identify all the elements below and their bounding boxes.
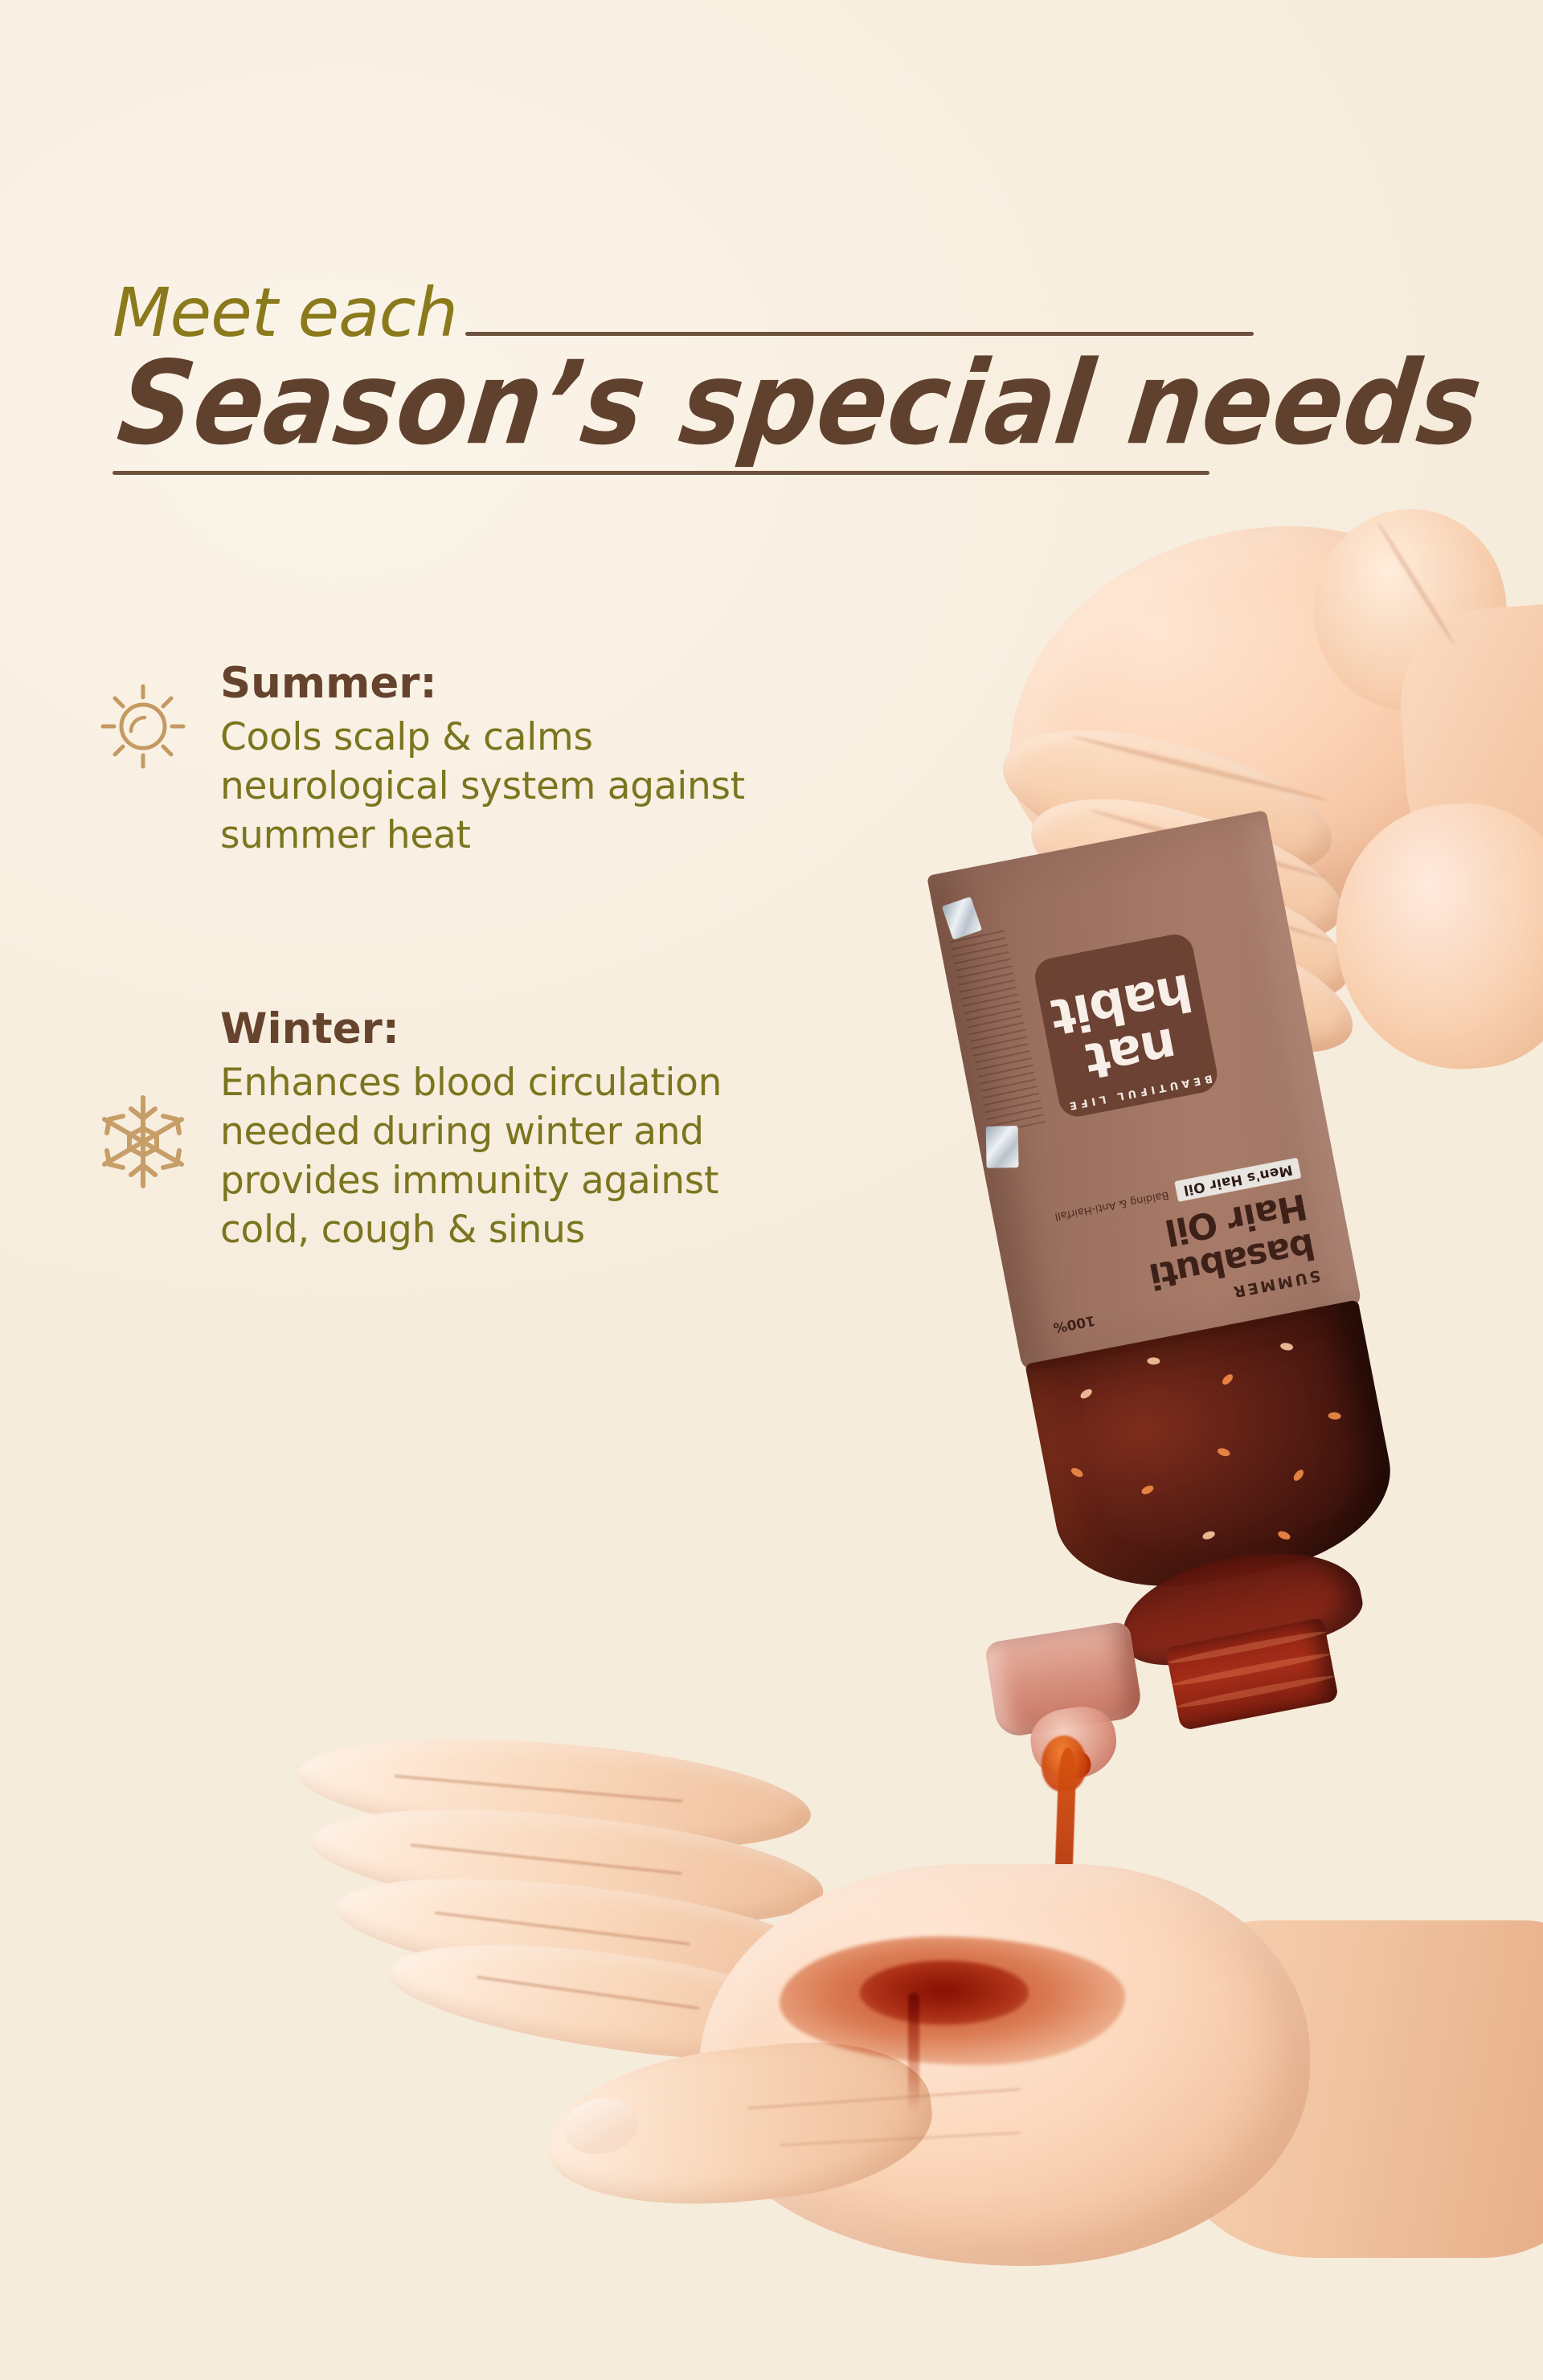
snowflake-icon bbox=[71, 1004, 215, 1192]
benefit-winter-line: cold, cough & sinus bbox=[220, 1205, 882, 1254]
benefit-summer: Summer: Cools scalp & calms neurological… bbox=[71, 659, 874, 860]
label-foil-badge bbox=[986, 1126, 1019, 1168]
hand-holding-bottle bbox=[888, 476, 1543, 1114]
brand-name-nat: nat bbox=[1009, 1006, 1254, 1101]
label-season: SUMMER bbox=[1230, 1266, 1322, 1301]
benefit-winter-text: Winter: Enhances blood circulation neede… bbox=[215, 1004, 882, 1254]
headline-block: Meet each Season’s special needs bbox=[113, 281, 1254, 475]
label-product-name: basabuti bbox=[1146, 1225, 1318, 1297]
label-product-type: Hair Oil bbox=[1162, 1185, 1311, 1253]
benefit-summer-line: neurological system against bbox=[220, 762, 874, 811]
bottle-shoulder bbox=[1113, 1535, 1368, 1675]
bottle-neck bbox=[1165, 1617, 1339, 1731]
benefit-winter: Winter: Enhances blood circulation neede… bbox=[71, 1004, 882, 1254]
bottle-nozzle-cap bbox=[973, 1619, 1165, 1804]
label-subtitle: Men's Hair Oil bbox=[1174, 1158, 1301, 1202]
headline-kicker: Meet each bbox=[113, 281, 457, 346]
oil-stream-head bbox=[1042, 1736, 1087, 1792]
hair-oil-bottle: SUMMER basabuti Hair Oil Men's Hair Oil … bbox=[879, 805, 1455, 1736]
benefit-summer-title: Summer: bbox=[220, 659, 874, 710]
headline-script: Season’s special needs bbox=[113, 346, 1268, 463]
benefit-winter-line: Enhances blood circulation bbox=[220, 1058, 882, 1107]
label-claim: Balding & Anti-Hairfall bbox=[1054, 1188, 1169, 1222]
benefit-winter-line: needed during winter and bbox=[220, 1107, 882, 1156]
headline-kicker-rule bbox=[465, 332, 1254, 336]
oil-stream bbox=[1051, 1748, 1077, 1981]
oil-drip-tail bbox=[908, 1993, 919, 2113]
benefit-summer-line: summer heat bbox=[220, 811, 874, 860]
nozzle-opening bbox=[1062, 1749, 1093, 1781]
brand-logo: BEAUTIFUL LIFE nat habit bbox=[984, 884, 1267, 1167]
brand-name-habit: habit bbox=[999, 957, 1245, 1052]
benefit-summer-line: Cools scalp & calms bbox=[220, 713, 874, 762]
open-palm-hand bbox=[265, 1720, 1543, 2354]
benefit-winter-body: Enhances blood circulation needed during… bbox=[220, 1058, 882, 1254]
brand-tagline: BEAUTIFUL LIFE bbox=[1020, 1063, 1259, 1121]
bottle-glass-body bbox=[1025, 1299, 1405, 1609]
label-fine-print bbox=[948, 926, 1045, 1134]
bottle-label: SUMMER basabuti Hair Oil Men's Hair Oil … bbox=[927, 810, 1362, 1372]
promo-canvas: SUMMER basabuti Hair Oil Men's Hair Oil … bbox=[0, 0, 1543, 2380]
oil-pool bbox=[780, 1936, 1125, 2065]
headline-underline bbox=[113, 471, 1209, 475]
label-percent: 100% bbox=[1052, 1312, 1096, 1336]
label-foil-badge bbox=[942, 897, 982, 940]
benefit-summer-body: Cools scalp & calms neurological system … bbox=[220, 713, 874, 860]
thumbnail bbox=[560, 2093, 642, 2160]
benefit-winter-title: Winter: bbox=[220, 1004, 882, 1055]
benefit-summer-text: Summer: Cools scalp & calms neurological… bbox=[215, 659, 874, 860]
benefit-winter-line: provides immunity against bbox=[220, 1156, 882, 1205]
oil-pool-core bbox=[860, 1961, 1029, 2025]
sun-icon bbox=[71, 659, 215, 775]
